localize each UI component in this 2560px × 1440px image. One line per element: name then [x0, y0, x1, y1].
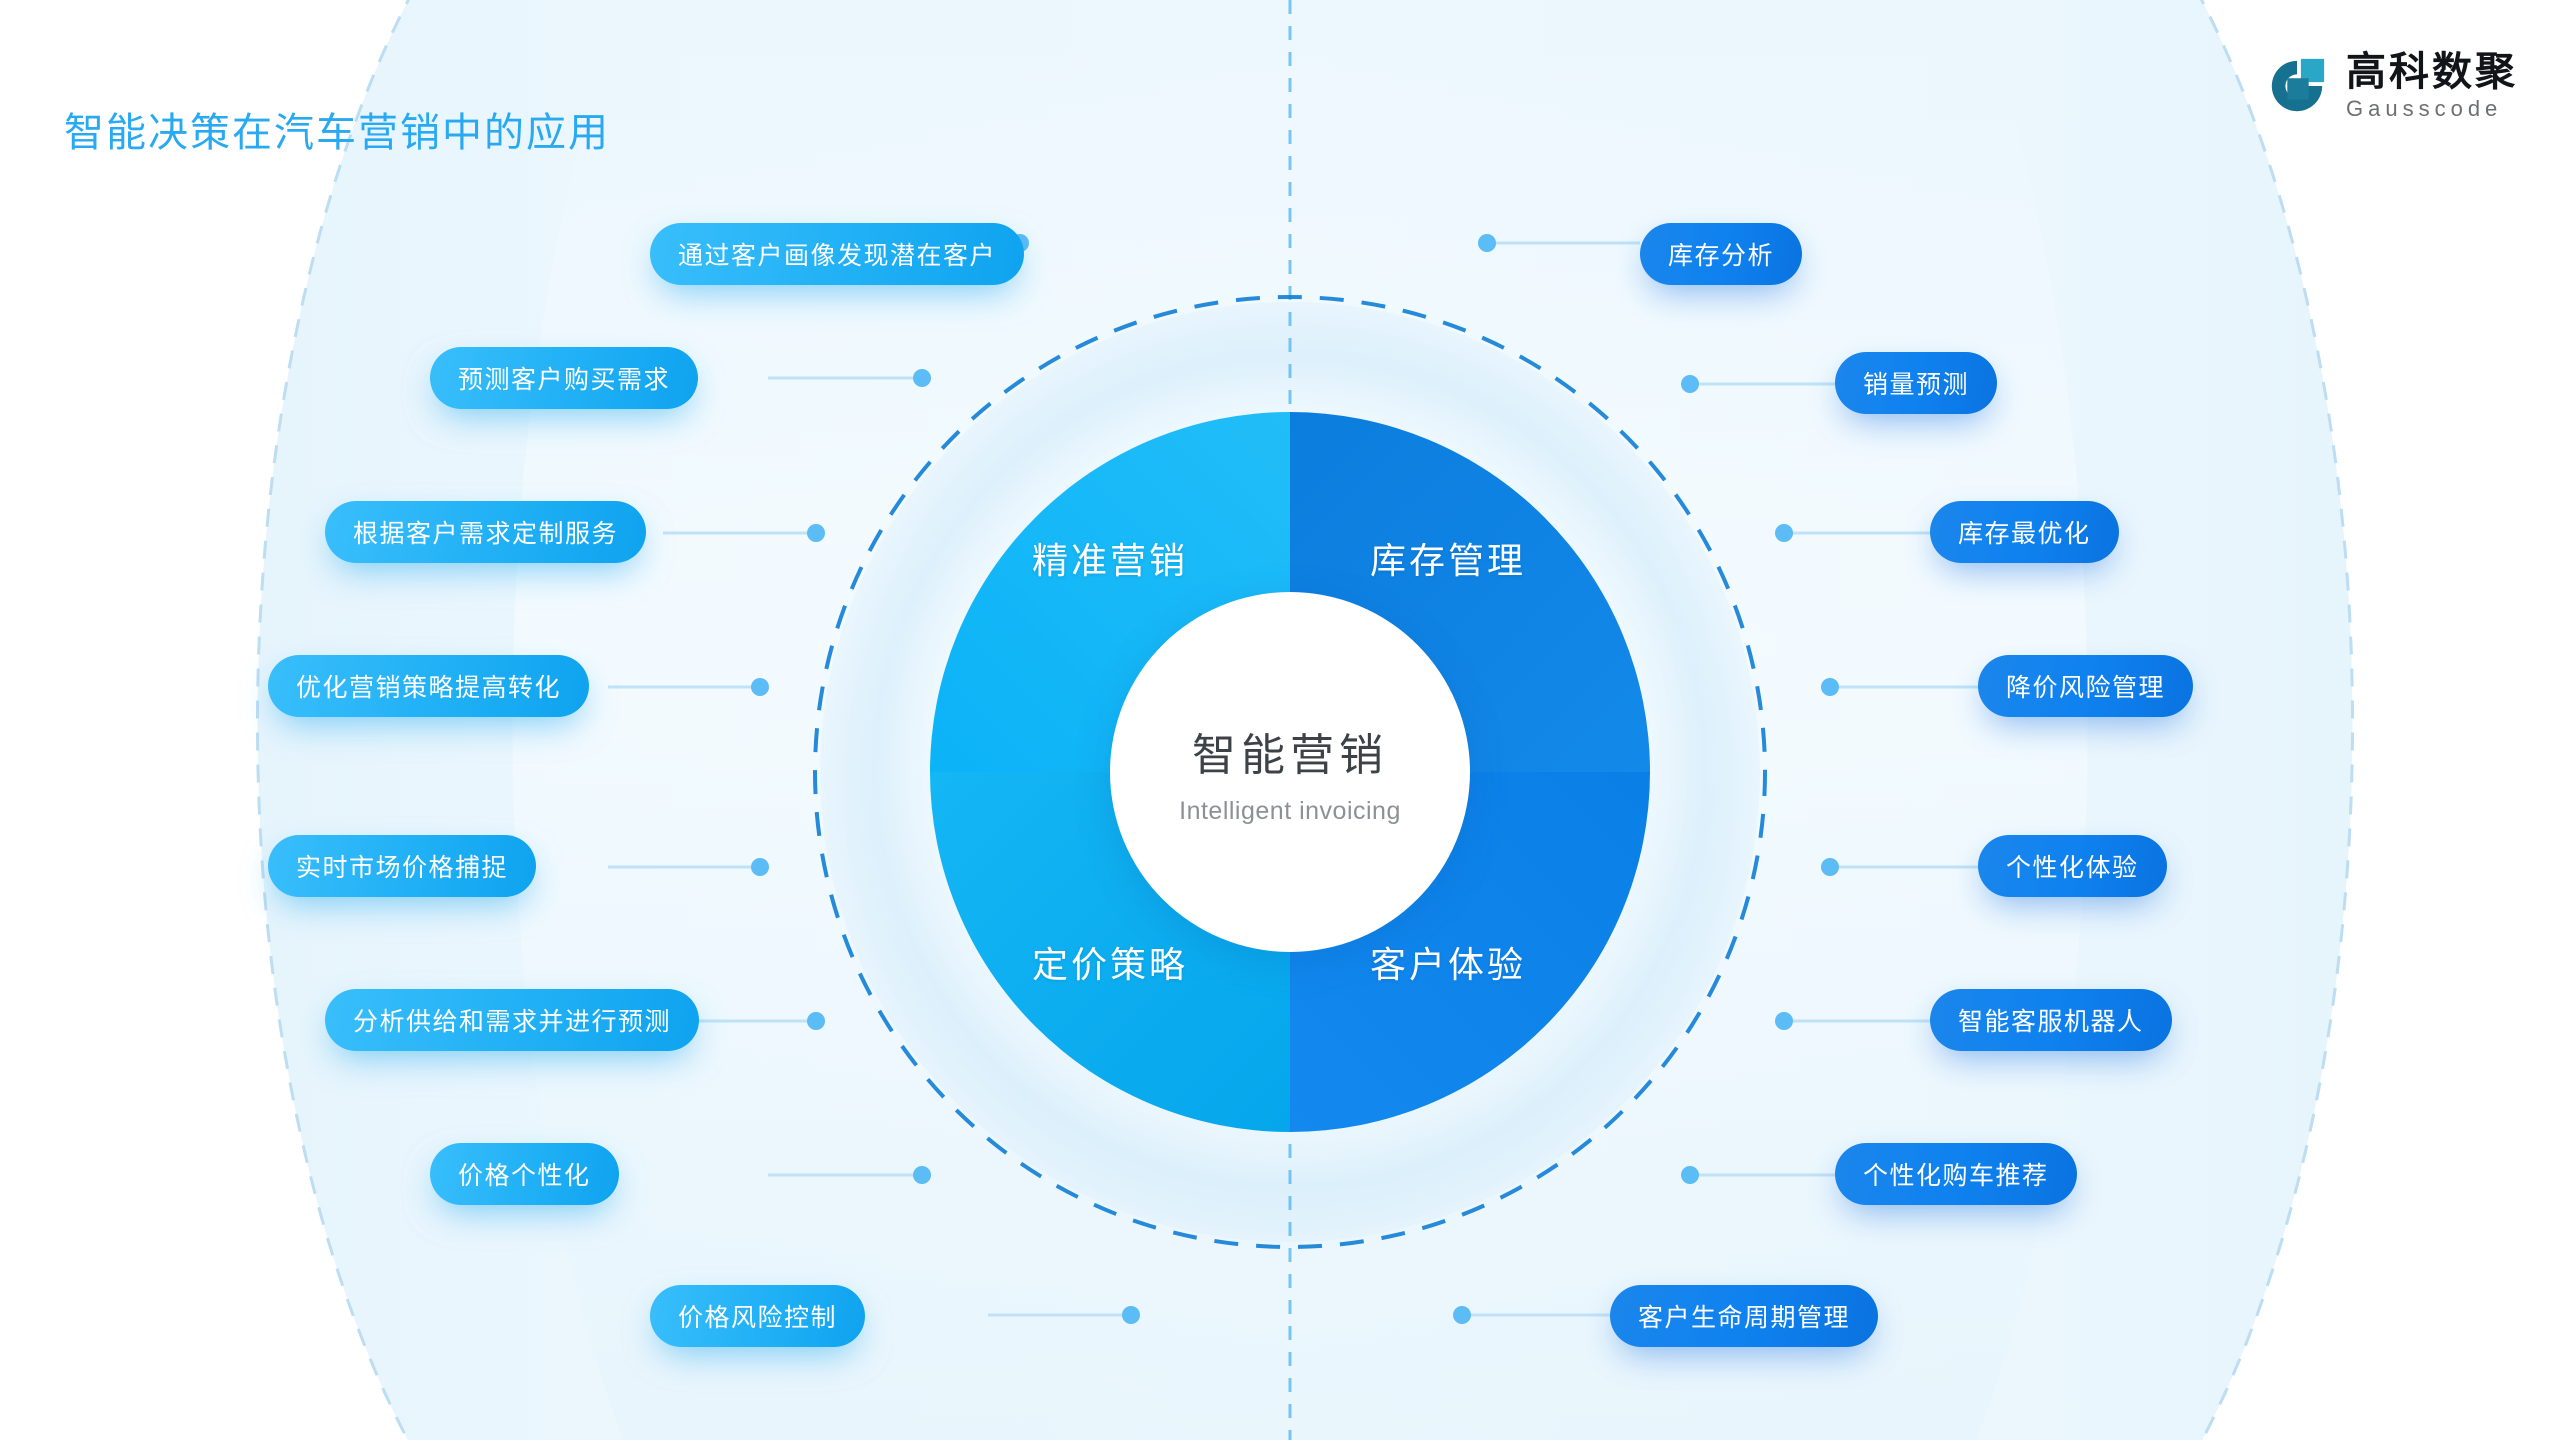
pill-label: 根据客户需求定制服务 — [353, 514, 618, 550]
center-subtitle: Intelligent invoicing — [1179, 797, 1401, 826]
pill-label: 客户生命周期管理 — [1638, 1298, 1850, 1334]
connector-dot-left-3 — [751, 678, 769, 696]
brand-name-cn: 高科数聚 — [2346, 52, 2518, 92]
connector-dot-right-2 — [1775, 524, 1793, 542]
connector-dot-left-2 — [807, 524, 825, 542]
gausscode-logo-icon — [2266, 55, 2328, 117]
pill-label: 优化营销策略提高转化 — [296, 668, 561, 704]
outer-lens-outline-right — [2180, 0, 2353, 1440]
pill-right-7[interactable]: 客户生命周期管理 — [1610, 1285, 1878, 1347]
outer-lens-outline — [258, 0, 431, 1440]
pill-right-2[interactable]: 库存最优化 — [1930, 501, 2119, 563]
pill-left-0[interactable]: 通过客户画像发现潜在客户 — [650, 223, 1024, 285]
center-core-circle: 智能营销 Intelligent invoicing — [1110, 592, 1470, 952]
pill-label: 通过客户画像发现潜在客户 — [678, 236, 996, 272]
pill-left-3[interactable]: 优化营销策略提高转化 — [268, 655, 589, 717]
pill-label: 销量预测 — [1863, 365, 1969, 401]
pill-label: 库存最优化 — [1958, 514, 2091, 550]
quadrant-label-top-right: 库存管理 — [1370, 532, 1526, 584]
pill-label: 实时市场价格捕捉 — [296, 848, 508, 884]
pill-right-0[interactable]: 库存分析 — [1640, 223, 1802, 285]
quadrant-label-top-left: 精准营销 — [1032, 532, 1188, 584]
quadrant-label-bottom-right: 客户体验 — [1370, 936, 1526, 988]
connector-dot-right-4 — [1821, 858, 1839, 876]
pill-left-6[interactable]: 价格个性化 — [430, 1143, 619, 1205]
brand-logo: 高科数聚 Gausscode — [2266, 52, 2518, 120]
pill-left-5[interactable]: 分析供给和需求并进行预测 — [325, 989, 699, 1051]
connector-dot-left-5 — [807, 1012, 825, 1030]
connector-dot-left-4 — [751, 858, 769, 876]
pill-left-4[interactable]: 实时市场价格捕捉 — [268, 835, 536, 897]
pill-left-1[interactable]: 预测客户购买需求 — [430, 347, 698, 409]
pill-label: 个性化购车推荐 — [1863, 1156, 2049, 1192]
pill-label: 价格风险控制 — [678, 1298, 837, 1334]
pill-right-1[interactable]: 销量预测 — [1835, 352, 1997, 414]
page-title: 智能决策在汽车营销中的应用 — [64, 100, 610, 158]
connector-dot-right-5 — [1775, 1012, 1793, 1030]
center-title: 智能营销 — [1192, 719, 1388, 783]
pill-right-3[interactable]: 降价风险管理 — [1978, 655, 2193, 717]
quadrant-label-bottom-left: 定价策略 — [1032, 936, 1188, 988]
connector-dot-right-7 — [1453, 1306, 1471, 1324]
pill-label: 预测客户购买需求 — [458, 360, 670, 396]
center-donut: 精准营销 库存管理 定价策略 客户体验 智能营销 Intelligent inv… — [880, 362, 1700, 1182]
pill-label: 库存分析 — [1668, 236, 1774, 272]
pill-label: 降价风险管理 — [2006, 668, 2165, 704]
connector-dot-left-7 — [1122, 1306, 1140, 1324]
connector-dot-right-0 — [1478, 234, 1496, 252]
pill-left-2[interactable]: 根据客户需求定制服务 — [325, 501, 646, 563]
brand-name-en: Gausscode — [2346, 98, 2518, 120]
pill-left-7[interactable]: 价格风险控制 — [650, 1285, 865, 1347]
pill-right-6[interactable]: 个性化购车推荐 — [1835, 1143, 2077, 1205]
pill-label: 分析供给和需求并进行预测 — [353, 1002, 671, 1038]
pill-right-4[interactable]: 个性化体验 — [1978, 835, 2167, 897]
pill-label: 智能客服机器人 — [1958, 1002, 2144, 1038]
slide-canvas: 智能决策在汽车营销中的应用 高科数聚 Gausscode — [0, 0, 2560, 1440]
pill-label: 价格个性化 — [458, 1156, 591, 1192]
pill-label: 个性化体验 — [2006, 848, 2139, 884]
connector-dot-right-3 — [1821, 678, 1839, 696]
pill-right-5[interactable]: 智能客服机器人 — [1930, 989, 2172, 1051]
